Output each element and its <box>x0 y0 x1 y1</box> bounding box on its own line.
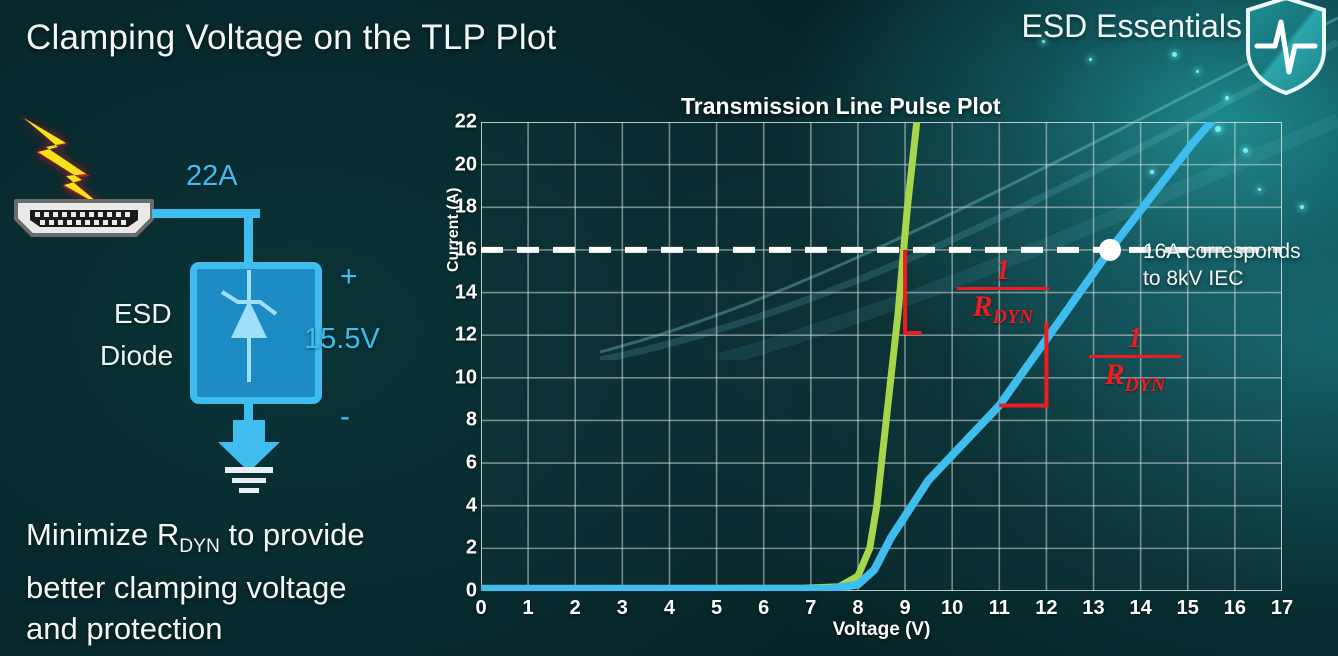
particle <box>1196 70 1199 73</box>
x-tick-label: 2 <box>570 597 581 620</box>
particle <box>1225 96 1229 100</box>
polarity-plus-label: + <box>340 260 358 294</box>
wire-vertical-top <box>244 209 253 264</box>
y-tick-label: 4 <box>466 494 477 517</box>
particle <box>1172 52 1177 57</box>
brand-label: ESD Essentials <box>1021 8 1242 45</box>
slope-numerator: 1 <box>952 258 1054 284</box>
marker-note: 16A corresponds to 8kV IEC <box>1143 238 1338 292</box>
y-tick-label: 20 <box>455 153 477 176</box>
x-tick-label: 5 <box>711 597 722 620</box>
y-tick-label: 18 <box>455 196 477 219</box>
x-axis-label: Voltage (V) <box>481 619 1282 641</box>
esd-circuit-diagram: 22A 15.5V + - ESD Diode <box>0 120 420 510</box>
voltage-label: 15.5V <box>304 323 380 356</box>
x-tick-label: 10 <box>941 597 963 620</box>
summary-line1-a: Minimize R <box>26 517 179 552</box>
summary-line1-sub: DYN <box>179 536 220 557</box>
slope-denominator: RDYN <box>1084 360 1186 400</box>
chart-title: Transmission Line Pulse Plot <box>681 93 1081 120</box>
slope-denominator-base: R <box>1105 358 1125 391</box>
y-tick-label: 10 <box>455 366 477 389</box>
slope-numerator: 1 <box>1084 326 1186 352</box>
particle <box>1089 58 1092 61</box>
component-label-line1: ESD <box>114 298 172 330</box>
shield-pulse-icon <box>1240 0 1332 98</box>
x-tick-label: 0 <box>475 597 486 620</box>
y-tick-label: 12 <box>455 324 477 347</box>
hdmi-connector-icon <box>10 195 158 239</box>
fraction-bar <box>1089 355 1181 358</box>
marker-note-line1: 16A corresponds <box>1143 238 1338 265</box>
slide-canvas: Clamping Voltage on the TLP Plot ESD Ess… <box>0 0 1338 656</box>
particle <box>1300 205 1304 209</box>
y-tick-label: 16 <box>455 238 477 261</box>
x-tick-label: 4 <box>664 597 675 620</box>
y-tick-label: 22 <box>455 111 477 134</box>
x-tick-label: 11 <box>989 597 1010 620</box>
marker-note-line2: to 8kV IEC <box>1143 265 1338 292</box>
ground-symbol-icon <box>212 420 286 496</box>
x-tick-label: 6 <box>758 597 769 620</box>
slope-label-1: 1 RDYN <box>952 258 1054 332</box>
summary-line1-b: to provide <box>220 517 365 552</box>
slope-denominator-sub: DYN <box>1125 374 1166 396</box>
slope-label-2: 1 RDYN <box>1084 326 1186 400</box>
summary-line3: and protection <box>26 611 222 646</box>
summary-text: Minimize RDYN to provide better clamping… <box>26 514 446 649</box>
x-tick-label: 14 <box>1130 597 1152 620</box>
slope-denominator: RDYN <box>952 292 1054 332</box>
x-tick-label: 13 <box>1082 597 1104 620</box>
slope-denominator-base: R <box>973 290 993 323</box>
y-tick-label: 8 <box>466 409 477 432</box>
x-tick-label: 1 <box>523 597 534 620</box>
page-title: Clamping Voltage on the TLP Plot <box>26 18 556 58</box>
x-tick-label: 3 <box>617 597 628 620</box>
x-tick-label: 7 <box>805 597 816 620</box>
y-tick-label: 2 <box>466 537 477 560</box>
component-label-line2: Diode <box>100 340 173 372</box>
x-tick-label: 8 <box>852 597 863 620</box>
x-tick-label: 17 <box>1271 597 1293 620</box>
current-label: 22A <box>186 160 238 193</box>
y-tick-label: 14 <box>455 281 477 304</box>
fraction-bar <box>957 287 1049 290</box>
x-tick-label: 15 <box>1177 597 1199 620</box>
polarity-minus-label: - <box>340 400 350 434</box>
y-tick-label: 6 <box>466 452 477 475</box>
slope-denominator-sub: DYN <box>993 306 1034 328</box>
x-tick-label: 16 <box>1224 597 1246 620</box>
tvs-diode-symbol-icon <box>200 270 298 382</box>
x-tick-label: 9 <box>899 597 910 620</box>
x-tick-label: 12 <box>1035 597 1057 620</box>
summary-line2: better clamping voltage <box>26 570 347 605</box>
